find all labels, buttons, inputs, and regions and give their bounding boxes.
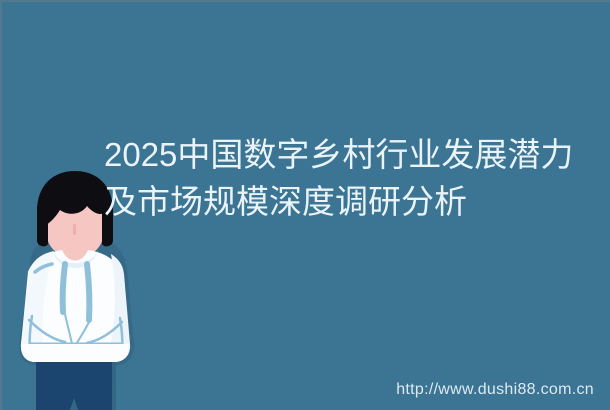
- poster-canvas: 2025中国数字乡村行业发展潜力及市场规模深度调研分析 http://www.d…: [0, 0, 610, 410]
- nose-mark: [73, 224, 76, 235]
- source-url-watermark: http://www.dushi88.com.cn: [396, 381, 594, 399]
- hoodie-hem: [21, 344, 129, 362]
- page-title: 2025中国数字乡村行业发展潜力及市场规模深度调研分析: [104, 131, 574, 225]
